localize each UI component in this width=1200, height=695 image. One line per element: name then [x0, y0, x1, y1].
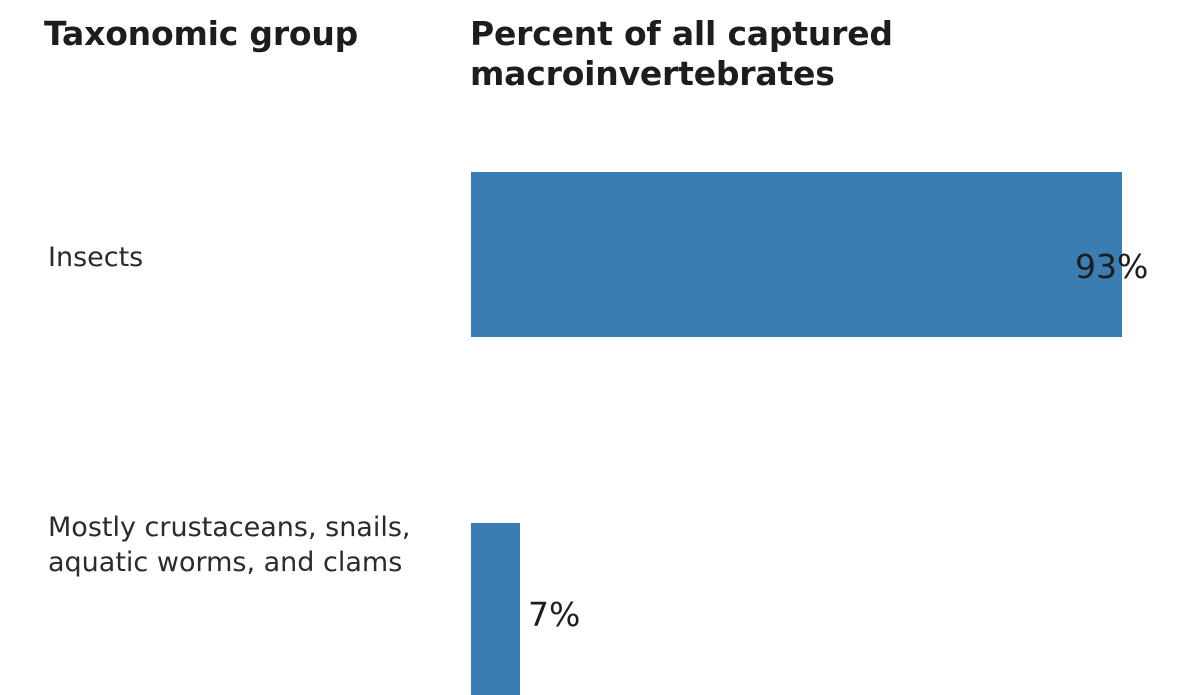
- chart-row-insects: Insects 93%: [0, 150, 1200, 370]
- chart-row-other: Mostly crustaceans, snails, aquatic worm…: [0, 385, 1200, 605]
- bar-insects: [471, 172, 1122, 337]
- bar-track-insects: [471, 172, 1171, 337]
- bar-value-other: 7%: [528, 595, 580, 634]
- row-label-insects: Insects: [48, 240, 463, 275]
- bar-value-insects: 93%: [1075, 247, 1148, 286]
- category-column-header: Taxonomic group: [44, 14, 444, 54]
- value-column-header: Percent of all captured macroinvertebrat…: [470, 14, 1110, 95]
- row-label-other: Mostly crustaceans, snails, aquatic worm…: [48, 510, 463, 580]
- bar-other: [471, 523, 520, 695]
- bar-chart: Taxonomic group Percent of all captured …: [0, 0, 1200, 637]
- chart-header: Taxonomic group Percent of all captured …: [0, 0, 1200, 130]
- plot-area: Insects 93% Mostly crustaceans, snails, …: [0, 130, 1200, 637]
